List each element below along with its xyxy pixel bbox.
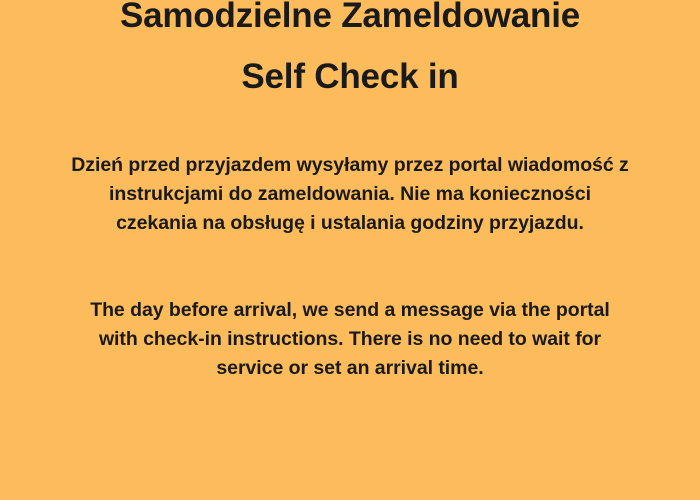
- self-check-in-poster: Samodzielne Zameldowanie Self Check in D…: [0, 0, 700, 500]
- page-title-english: Self Check in: [0, 59, 700, 94]
- page-title-polish: Samodzielne Zameldowanie: [0, 0, 700, 33]
- description-paragraph-polish: Dzień przed przyjazdem wysyłamy przez po…: [70, 151, 630, 238]
- heading-block: Samodzielne Zameldowanie Self Check in: [0, 0, 700, 94]
- body-block: Dzień przed przyjazdem wysyłamy przez po…: [70, 94, 630, 383]
- description-paragraph-english: The day before arrival, we send a messag…: [70, 296, 630, 383]
